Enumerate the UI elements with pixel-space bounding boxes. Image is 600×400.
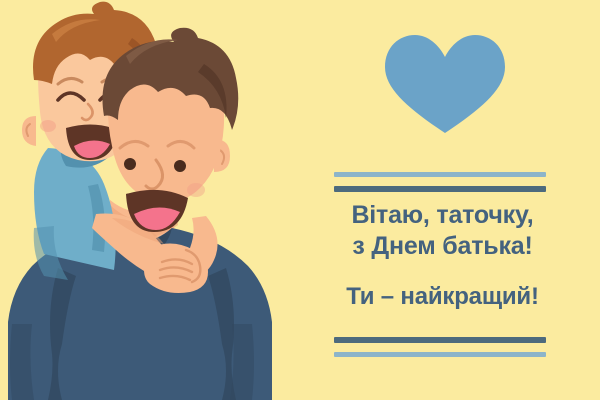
greeting-message: Вітаю, таточку, з Днем батька! Ти – найк… [300, 200, 585, 312]
rule-light-bottom [334, 352, 546, 357]
rule-dark-top [334, 186, 546, 192]
rule-dark-bottom [334, 337, 546, 343]
father-tshirt-shadow-left [10, 324, 34, 400]
rules-bottom [334, 337, 546, 357]
fathers-day-card: Вітаю, таточку, з Днем батька! Ти – найк… [0, 0, 600, 400]
father-head [102, 28, 238, 232]
greeting-line-3: Ти – найкращий! [300, 282, 585, 312]
rule-light-top [334, 172, 546, 177]
father-and-son-illustration [0, 0, 340, 400]
father-tshirt-shadow-right [230, 324, 254, 400]
greeting-line-1: Вітаю, таточку, [300, 200, 585, 231]
heart-icon [383, 33, 507, 137]
greeting-line-2: з Днем батька! [300, 231, 585, 262]
rules-top [334, 172, 546, 192]
